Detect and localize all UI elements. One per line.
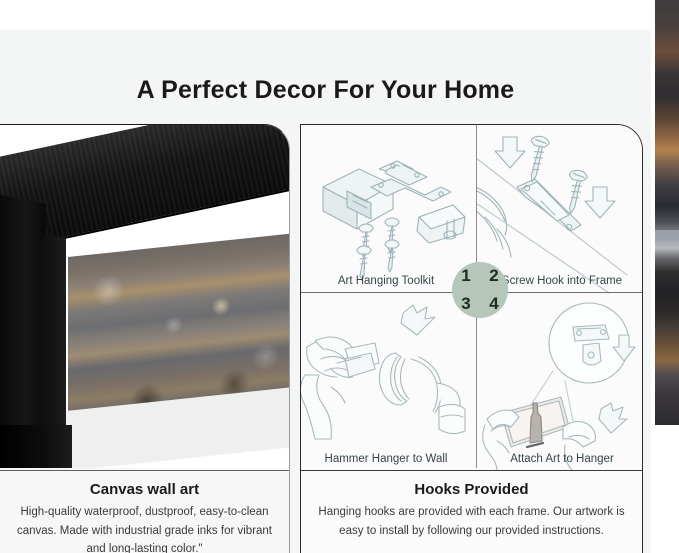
step-badge-3: 3 — [452, 290, 480, 318]
product-detail-image: A Perfect Decor For Your Home Canvas wal… — [0, 0, 679, 553]
instruction-step-1-label: Art Hanging Toolkit — [301, 275, 471, 287]
instruction-step-3: Hammer Hanger to Wall — [301, 301, 471, 471]
right-instructions-panel: Art Hanging Toolkit — [300, 124, 643, 553]
step-badge-1: 1 — [452, 262, 480, 290]
step-badge-4: 4 — [480, 290, 508, 318]
hammer-hanger-to-wall-icon — [301, 301, 471, 471]
top-white-band — [0, 0, 679, 30]
instruction-step-4: Attach Art to Hanger — [477, 301, 643, 471]
step-number-badge: 1 2 3 4 — [452, 262, 508, 318]
right-caption-body: Hanging hooks are provided with each fra… — [315, 503, 628, 540]
instruction-step-4-label: Attach Art to Hanger — [477, 453, 643, 465]
right-caption-block: Hooks Provided Hanging hooks are provide… — [301, 470, 642, 553]
attach-art-to-hanger-icon — [477, 301, 643, 471]
left-caption-title: Canvas wall art — [12, 481, 277, 498]
frame-bottom-shadow — [0, 425, 72, 468]
left-caption-block: Canvas wall art High-quality waterproof,… — [0, 470, 289, 553]
art-hanging-toolkit-icon — [301, 125, 471, 295]
left-feature-panel: Canvas wall art High-quality waterproof,… — [0, 124, 290, 553]
instruction-step-3-label: Hammer Hanger to Wall — [301, 453, 471, 465]
page-title: A Perfect Decor For Your Home — [0, 76, 651, 105]
left-caption-body: High-quality waterproof, dustproof, easy… — [12, 503, 277, 553]
instruction-step-1: Art Hanging Toolkit — [301, 125, 471, 295]
step-badge-2: 2 — [480, 262, 508, 290]
right-caption-title: Hooks Provided — [315, 481, 628, 498]
adjacent-image-strip — [655, 0, 679, 425]
canvas-art-photo — [0, 125, 289, 468]
